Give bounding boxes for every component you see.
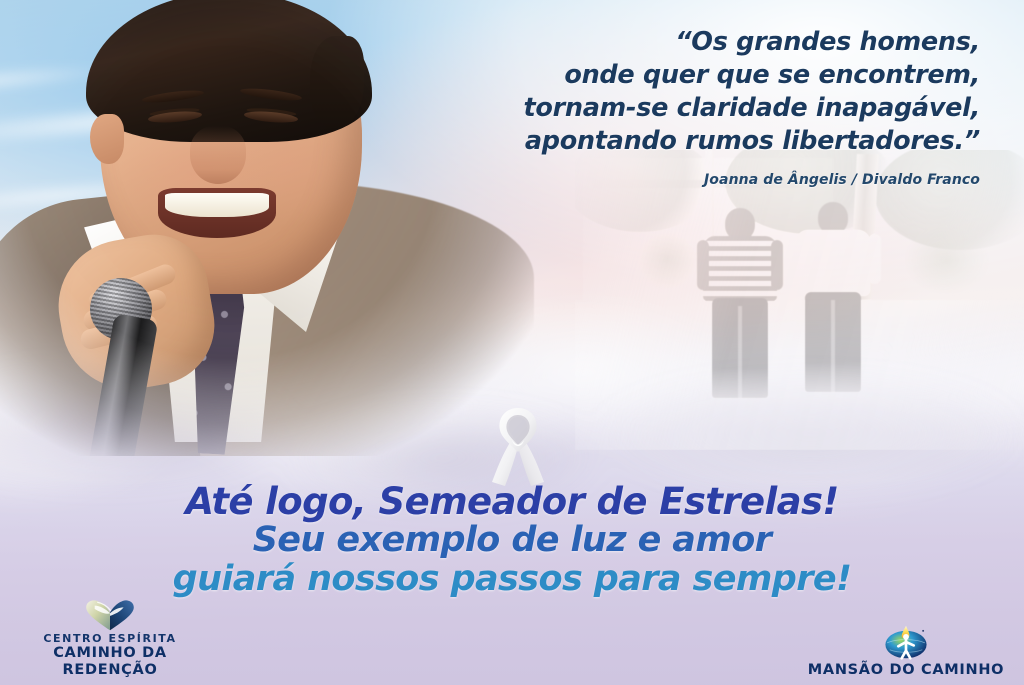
portrait-nose bbox=[190, 126, 246, 184]
quote-line-2: onde quer que se encontrem, bbox=[420, 59, 980, 92]
scene-person-arm-right bbox=[869, 234, 881, 284]
quote-text: “Os grandes homens, onde quer que se enc… bbox=[420, 26, 980, 158]
clasped-hands-heart-icon bbox=[10, 598, 210, 632]
headline-line-2: Seu exemplo de luz e amor bbox=[0, 521, 1024, 560]
scene-person-arm-left bbox=[785, 234, 797, 284]
globe-figure-flame-icon bbox=[796, 625, 1016, 659]
scene-person-arm-left bbox=[697, 240, 709, 290]
scene-person-striped-shirt bbox=[703, 208, 777, 400]
headline-text: Até logo, Semeador de Estrelas! Seu exem… bbox=[0, 482, 1024, 599]
background-scene-photo bbox=[575, 150, 1024, 450]
portrait-hair bbox=[86, 0, 372, 142]
quote-line-3: tornam-se claridade inapagável, bbox=[420, 92, 980, 125]
scene-person-torso bbox=[796, 230, 870, 296]
logo-right-line-1: MANSÃO DO CAMINHO bbox=[796, 662, 1016, 679]
portrait-ear bbox=[90, 114, 124, 164]
portrait-smiling-mouth bbox=[158, 188, 276, 238]
mourning-ribbon-icon bbox=[482, 404, 554, 488]
scene-person-white-shirt bbox=[793, 202, 873, 398]
logo-centro-espirita: CENTRO ESPÍRITA CAMINHO DA REDENÇÃO bbox=[10, 598, 210, 679]
headline-line-3: guiará nossos passos para sempre! bbox=[0, 560, 1024, 599]
quote-line-4: apontando rumos libertadores.” bbox=[420, 125, 980, 158]
memorial-poster: “Os grandes homens, onde quer que se enc… bbox=[0, 0, 1024, 685]
scene-person-torso bbox=[703, 236, 777, 302]
scene-person-arm-right bbox=[771, 240, 783, 290]
logo-left-line-2: CAMINHO DA REDENÇÃO bbox=[10, 645, 210, 679]
headline-line-1: Até logo, Semeador de Estrelas! bbox=[0, 482, 1024, 521]
logo-mansao-do-caminho: MANSÃO DO CAMINHO bbox=[796, 625, 1016, 679]
quote-line-1: “Os grandes homens, bbox=[420, 26, 980, 59]
scene-person-legs bbox=[805, 292, 861, 392]
portrait-teeth bbox=[165, 193, 269, 217]
scene-person-legs bbox=[712, 298, 768, 398]
quote-attribution: Joanna de Ângelis / Divaldo Franco bbox=[420, 172, 980, 188]
scene-palm-right bbox=[887, 212, 1007, 308]
logo-left-line-1: CENTRO ESPÍRITA bbox=[10, 632, 210, 645]
